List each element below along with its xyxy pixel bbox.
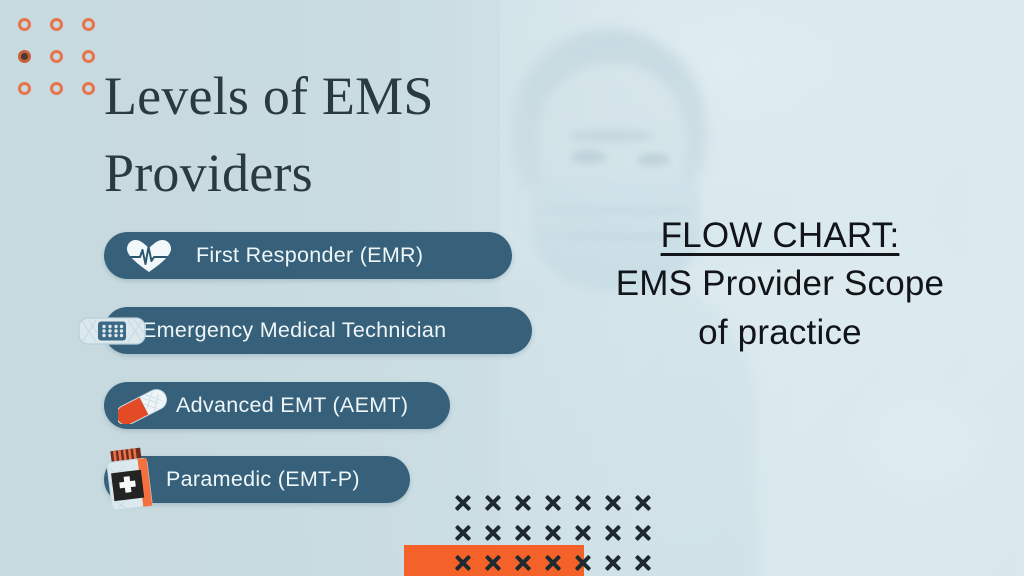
dot-grid-decoration xyxy=(18,18,114,114)
x-mark-icon xyxy=(538,488,568,518)
dot-decoration xyxy=(82,50,95,63)
flow-heading-line-3: of practice xyxy=(560,309,1000,357)
slide-canvas: Levels of EMS Providers First Responder … xyxy=(0,0,1024,576)
page-title-line-2: Providers xyxy=(104,143,313,203)
flow-heading-line-1: FLOW CHART: xyxy=(560,212,1000,260)
x-mark-icon xyxy=(508,518,538,548)
level-pill-label: Paramedic (EMT-P) xyxy=(166,467,360,492)
dot-decoration xyxy=(18,82,31,95)
medicine-bottle-icon xyxy=(100,445,162,515)
x-mark-grid-decoration xyxy=(448,488,658,576)
dot-decoration xyxy=(18,18,31,31)
dot-decoration xyxy=(50,50,63,63)
level-pill-emt[interactable]: Emergency Medical Technician xyxy=(104,307,532,354)
x-mark-icon xyxy=(448,548,478,576)
page-title: Levels of EMS Providers xyxy=(104,58,504,211)
x-mark-icon xyxy=(448,488,478,518)
x-mark-icon xyxy=(448,518,478,548)
level-pill-label: Emergency Medical Technician xyxy=(142,318,446,343)
heart-pulse-icon xyxy=(126,239,172,273)
page-title-line-1: Levels of EMS xyxy=(104,66,434,126)
level-pill-first-responder[interactable]: First Responder (EMR) xyxy=(104,232,512,279)
dot-decoration xyxy=(82,18,95,31)
dot-decoration xyxy=(50,18,63,31)
dot-decoration-filled xyxy=(18,50,31,63)
capsule-pill-icon xyxy=(118,388,170,424)
level-pill-label: Advanced EMT (AEMT) xyxy=(176,393,408,418)
x-mark-icon xyxy=(538,518,568,548)
x-mark-icon xyxy=(538,548,568,576)
x-mark-icon xyxy=(598,518,628,548)
dot-decoration xyxy=(82,82,95,95)
x-mark-icon xyxy=(628,548,658,576)
x-mark-icon xyxy=(568,488,598,518)
flow-heading-line-2: EMS Provider Scope xyxy=(560,260,1000,308)
x-mark-icon xyxy=(628,488,658,518)
x-mark-icon xyxy=(478,488,508,518)
flow-chart-heading: FLOW CHART: EMS Provider Scope of practi… xyxy=(560,212,1000,357)
x-mark-icon xyxy=(568,518,598,548)
x-mark-icon xyxy=(508,548,538,576)
level-pill-label: First Responder (EMR) xyxy=(196,243,423,268)
level-pill-aemt[interactable]: Advanced EMT (AEMT) xyxy=(104,382,450,429)
x-mark-icon xyxy=(478,518,508,548)
x-mark-icon xyxy=(478,548,508,576)
x-mark-icon xyxy=(568,548,598,576)
x-mark-icon xyxy=(598,488,628,518)
x-mark-icon xyxy=(598,548,628,576)
x-mark-icon xyxy=(628,518,658,548)
x-mark-icon xyxy=(508,488,538,518)
level-pill-paramedic[interactable]: Paramedic (EMT-P) xyxy=(104,456,410,503)
bandage-icon xyxy=(78,315,146,347)
dot-decoration xyxy=(50,82,63,95)
